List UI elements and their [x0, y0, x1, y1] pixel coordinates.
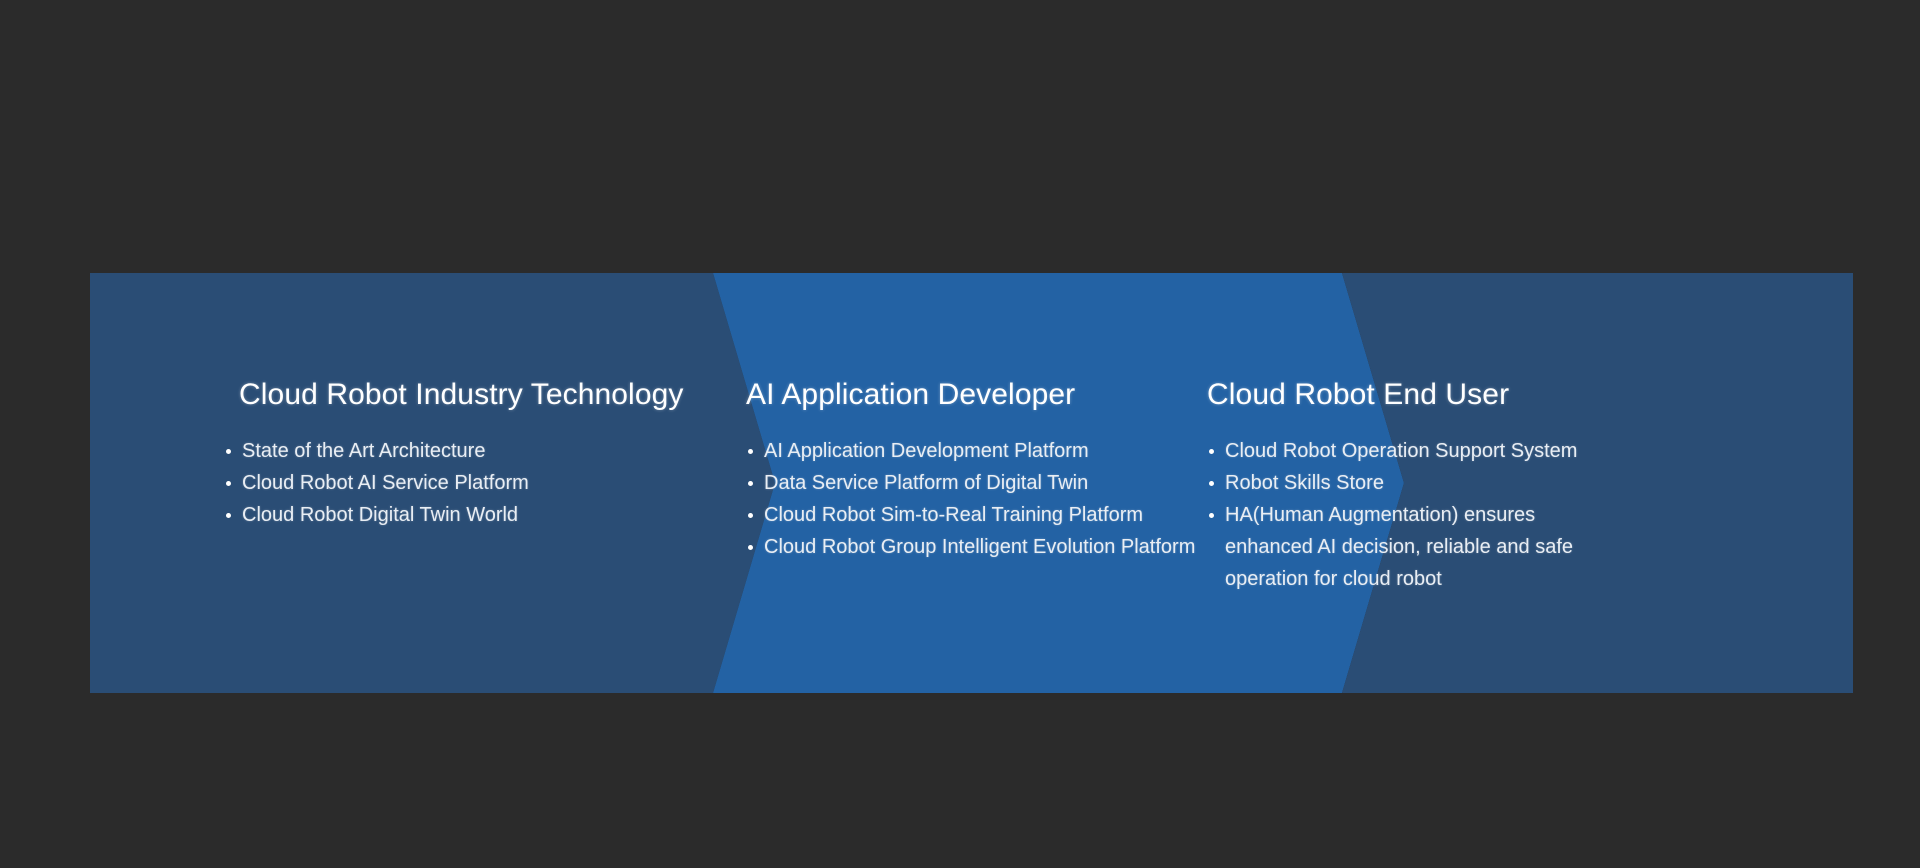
- bullet-list-industry-technology: State of the Art Architecture Cloud Robo…: [224, 435, 624, 531]
- panel-content-ai-application-developer: AI Application Developer AI Application …: [746, 273, 1266, 693]
- list-item: HA(Human Augmentation) ensures enhanced …: [1207, 499, 1607, 595]
- list-item: State of the Art Architecture: [224, 435, 624, 467]
- panel-content-industry-technology: Cloud Robot Industry Technology State of…: [208, 273, 728, 693]
- bullet-list-ai-application-developer: AI Application Development Platform Data…: [746, 435, 1176, 563]
- panel-content-end-user: Cloud Robot End User Cloud Robot Operati…: [1207, 273, 1727, 693]
- slide-canvas: Cloud Robot Industry Technology State of…: [0, 0, 1920, 868]
- bullet-list-end-user: Cloud Robot Operation Support System Rob…: [1207, 435, 1607, 595]
- list-item: Cloud Robot AI Service Platform: [224, 467, 624, 499]
- panel-title-ai-application-developer: AI Application Developer: [746, 378, 1075, 412]
- list-item: Cloud Robot Sim-to-Real Training Platfor…: [746, 499, 1176, 531]
- chevron-diagram: Cloud Robot Industry Technology State of…: [90, 273, 1853, 693]
- list-item: Robot Skills Store: [1207, 467, 1607, 499]
- list-item: AI Application Development Platform: [746, 435, 1176, 467]
- list-item: Cloud Robot Operation Support System: [1207, 435, 1607, 467]
- panel-title-end-user: Cloud Robot End User: [1207, 378, 1509, 412]
- list-item: Cloud Robot Digital Twin World: [224, 499, 624, 531]
- list-item: Data Service Platform of Digital Twin: [746, 467, 1176, 499]
- panel-title-industry-technology: Cloud Robot Industry Technology: [239, 378, 684, 412]
- list-item: Cloud Robot Group Intelligent Evolution …: [746, 531, 1176, 563]
